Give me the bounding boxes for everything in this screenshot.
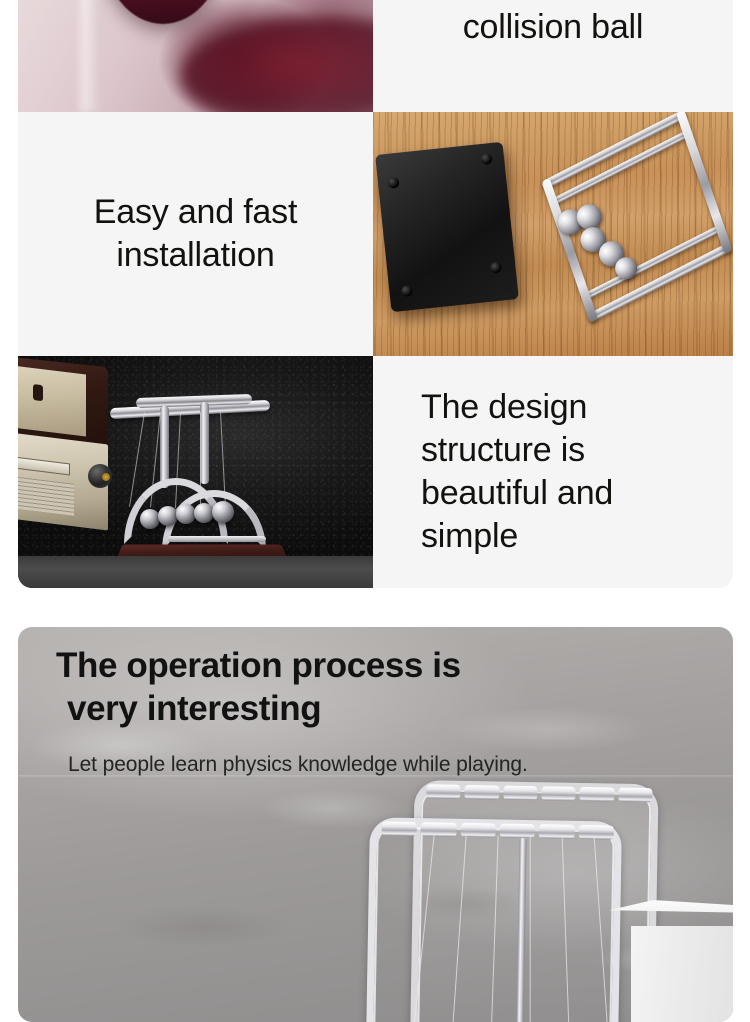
operation-heading-line-1: The operation process is: [56, 646, 461, 685]
table-side-face: [631, 926, 733, 1022]
wire: [562, 837, 572, 1022]
radio-knob: [88, 464, 112, 488]
steel-ball: [194, 503, 214, 523]
steel-ball: [158, 506, 178, 526]
newtons-cradle-product: [110, 370, 290, 576]
operation-subtitle: Let people learn physics knowledge while…: [68, 753, 528, 777]
operation-heading-line-2: very interesting: [56, 688, 616, 731]
wire: [530, 836, 531, 1022]
steel-ball: [212, 501, 234, 523]
rung: [618, 788, 653, 803]
operation-heading: The operation process is very interestin…: [56, 645, 616, 730]
radio-panel: [18, 365, 86, 436]
easy-install-cell: Easy and fast installation: [18, 112, 373, 356]
blurred-post-highlight: [75, 0, 101, 112]
radio-speaker-grille: [18, 476, 74, 516]
design-structure-cell: The design structure is beautiful and si…: [373, 356, 733, 588]
operation-process-banner: The operation process is very interestin…: [18, 627, 733, 1022]
feature-row-2: Easy and fast installation: [18, 112, 733, 356]
floor-strip: [18, 556, 373, 588]
suspension-wires: [425, 834, 629, 1022]
rung: [580, 787, 615, 802]
wood-table-parts-photo: [373, 112, 733, 356]
cradle-ball-row: [140, 500, 250, 532]
rung: [541, 786, 576, 801]
rubber-foot: [481, 153, 493, 165]
easy-install-caption: Easy and fast installation: [18, 191, 373, 277]
dark-desk-cradle-photo: [18, 356, 373, 588]
collision-ball-caption: collision ball: [373, 6, 733, 49]
vintage-radio-prop: [18, 360, 110, 528]
rung: [382, 821, 418, 836]
steel-ball: [176, 504, 196, 524]
rubber-foot: [388, 177, 400, 189]
design-structure-caption: The design structure is beautiful and si…: [373, 386, 733, 557]
white-table-corner: [609, 900, 733, 1022]
feature-row-3: The design structure is beautiful and si…: [18, 356, 733, 588]
wire: [448, 835, 466, 1022]
rung: [426, 784, 461, 799]
rubber-foot: [490, 262, 502, 274]
black-base-plate: [375, 142, 519, 313]
product-feature-grid: collision ball Easy and fast installatio…: [18, 0, 733, 588]
pink-macro-balls-photo: [18, 0, 373, 112]
design-line-2: structure is: [421, 431, 585, 469]
cradle-arch-bar: [168, 536, 266, 542]
steel-ball: [140, 509, 160, 529]
easy-install-line-1: Easy and fast: [94, 193, 297, 231]
rung: [503, 786, 538, 801]
rung: [465, 785, 500, 800]
design-line-3: beautiful and: [421, 474, 613, 512]
wire: [489, 835, 499, 1022]
easy-install-line-2: installation: [116, 236, 274, 274]
collision-ball-cell: collision ball: [373, 0, 733, 112]
rubber-foot: [401, 285, 413, 297]
blurred-foreground-ball: [181, 17, 373, 112]
design-line-4: simple: [421, 517, 518, 555]
design-line-1: The design: [421, 388, 587, 426]
feature-row-1: collision ball: [18, 0, 733, 112]
